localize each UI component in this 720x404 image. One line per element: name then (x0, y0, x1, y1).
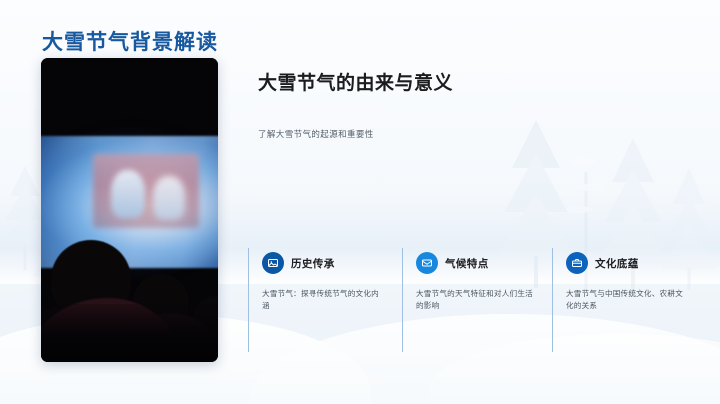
envelope-icon (416, 252, 438, 274)
card-title: 气候特点 (445, 256, 489, 271)
card-header: 文化底蕴 (566, 251, 702, 275)
photo-screen-figure (111, 170, 145, 218)
image-icon (262, 252, 284, 274)
card-header: 气候特点 (416, 251, 552, 275)
feature-cards: 历史传承 大雪节气：探寻传统节气的文化内涵 气候特点 大雪节气的天气特征和对人们… (248, 248, 710, 352)
card-title: 文化底蕴 (595, 256, 639, 271)
briefcase-icon (566, 252, 588, 274)
main-headline: 大雪节气的由来与意义 (258, 68, 453, 95)
cinema-audience-photo (41, 58, 218, 362)
card-body: 大雪节气与中国传统文化、农耕文化的关系 (566, 288, 690, 313)
feature-card-history[interactable]: 历史传承 大雪节气：探寻传统节气的文化内涵 (248, 248, 398, 352)
card-body: 大雪节气的天气特征和对人们生活的影响 (416, 288, 540, 313)
card-title: 历史传承 (291, 256, 335, 271)
photo-screen-figure (153, 176, 185, 220)
photo-bottom-shadow (41, 304, 218, 362)
slide-title: 大雪节气背景解读 (42, 26, 218, 56)
feature-card-culture[interactable]: 文化底蕴 大雪节气与中国传统文化、农耕文化的关系 (552, 248, 702, 352)
card-header: 历史传承 (262, 251, 398, 275)
feature-card-climate[interactable]: 气候特点 大雪节气的天气特征和对人们生活的影响 (402, 248, 552, 352)
card-body: 大雪节气：探寻传统节气的文化内涵 (262, 288, 386, 313)
subheadline: 了解大雪节气的起源和重要性 (258, 128, 374, 140)
presentation-slide: 大雪节气背景解读 大雪节气的由来与意义 了解大雪节气的起源和重要性 (0, 0, 720, 404)
